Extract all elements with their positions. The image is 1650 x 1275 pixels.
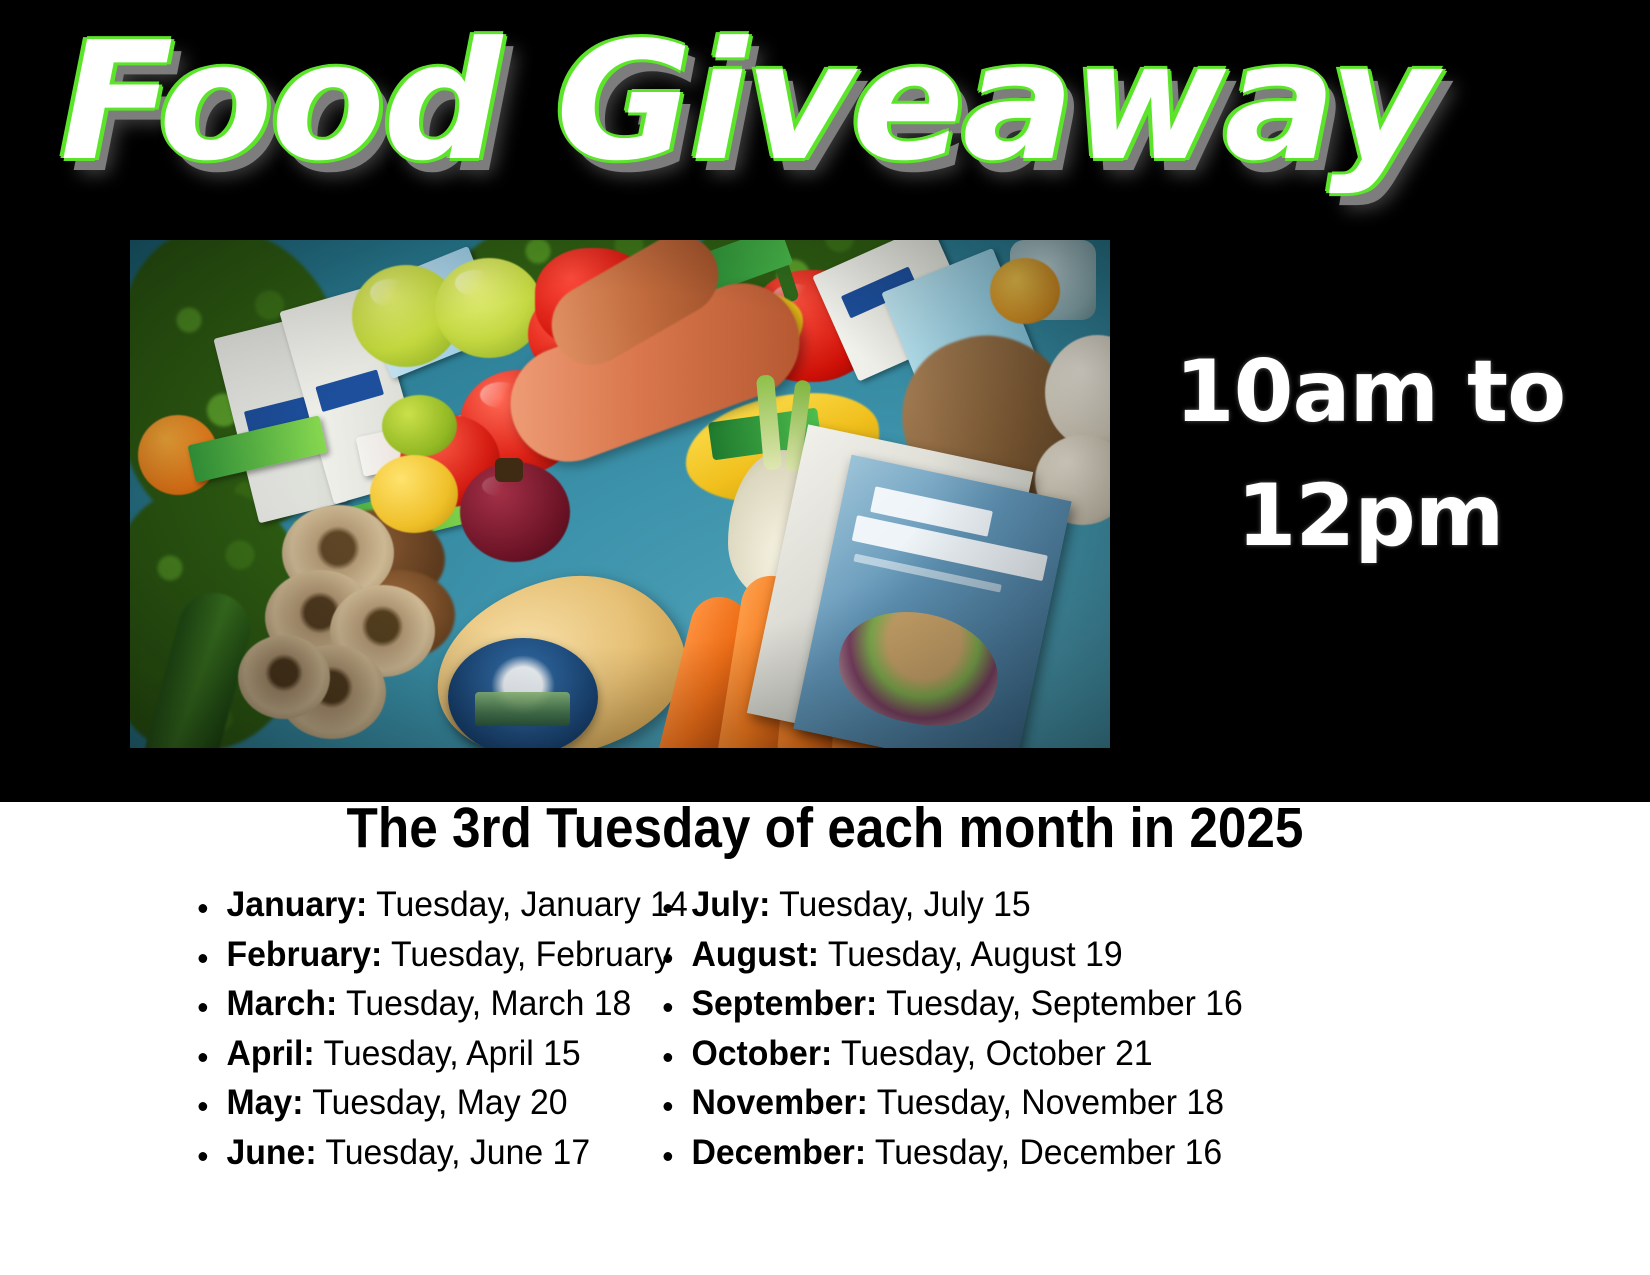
page-title: Food Giveaway [60,10,1610,195]
hours-line-2: 12pm [1110,454,1630,578]
month-list-item: August: Tuesday, August 19 [650,930,1615,980]
hero-band: Food Giveaway [0,0,1650,802]
month-list-item: September: Tuesday, September 16 [650,979,1615,1029]
month-list-item: January: Tuesday, January 14 [185,880,624,930]
month-name: October: [691,1034,832,1073]
month-name: January: [226,885,367,924]
month-date: Tuesday, February [382,935,670,974]
month-name: September: [691,984,877,1023]
onion-stem-icon [495,458,523,482]
schedule-column-right: July: Tuesday, July 15August: Tuesday, A… [640,880,1650,1177]
jar-contents-icon [990,258,1060,324]
hours-line-1: 10am to [1110,330,1630,454]
schedule-column-left: January: Tuesday, January 14February: Tu… [0,880,640,1177]
month-date: Tuesday, September 16 [877,984,1242,1023]
title-container: Food Giveaway [60,10,1580,210]
schedule-headline: The 3rd Tuesday of each month in 2025 [83,788,1568,868]
month-name: April: [226,1034,314,1073]
mushroom-icon [238,635,330,719]
month-date: Tuesday, April 15 [315,1034,581,1073]
month-name: March: [226,984,337,1023]
month-list-item: June: Tuesday, June 17 [185,1128,624,1178]
month-list-item: December: Tuesday, December 16 [650,1128,1615,1178]
month-date: Tuesday, June 17 [317,1133,591,1172]
month-date: Tuesday, October 21 [832,1034,1152,1073]
month-list-item: October: Tuesday, October 21 [650,1029,1615,1079]
month-name: November: [691,1083,867,1122]
month-date: Tuesday, December 16 [866,1133,1222,1172]
schedule-section: The 3rd Tuesday of each month in 2025 Ja… [0,802,1650,1275]
food-giveaway-flyer: Food Giveaway [0,0,1650,1275]
hours-text: 10am to 12pm [1110,330,1630,578]
month-list-item: November: Tuesday, November 18 [650,1078,1615,1128]
schedule-columns: January: Tuesday, January 14February: Tu… [0,880,1650,1177]
months-list-second-half: July: Tuesday, July 15August: Tuesday, A… [650,880,1650,1177]
month-list-item: April: Tuesday, April 15 [185,1029,624,1079]
month-name: February: [226,935,382,974]
month-name: August: [691,935,819,974]
month-date: Tuesday, May 20 [303,1083,567,1122]
month-name: December: [691,1133,866,1172]
month-date: Tuesday, November 18 [868,1083,1224,1122]
month-date: Tuesday, July 15 [770,885,1030,924]
month-list-item: February: Tuesday, February [185,930,624,980]
month-name: June: [226,1133,316,1172]
month-date: Tuesday, March 18 [337,984,631,1023]
month-list-item: May: Tuesday, May 20 [185,1078,624,1128]
months-list-first-half: January: Tuesday, January 14February: Tu… [185,880,640,1177]
lime-icon [382,395,457,457]
month-list-item: March: Tuesday, March 18 [185,979,624,1029]
food-photo [130,240,1110,748]
month-name: May: [226,1083,303,1122]
tub-label-icon [475,692,570,726]
green-apple-icon [435,258,543,358]
month-list-item: July: Tuesday, July 15 [650,880,1615,930]
month-date: Tuesday, August 19 [819,935,1123,974]
month-name: July: [691,885,770,924]
lemon-icon [370,455,458,533]
month-date: Tuesday, January 14 [367,885,687,924]
